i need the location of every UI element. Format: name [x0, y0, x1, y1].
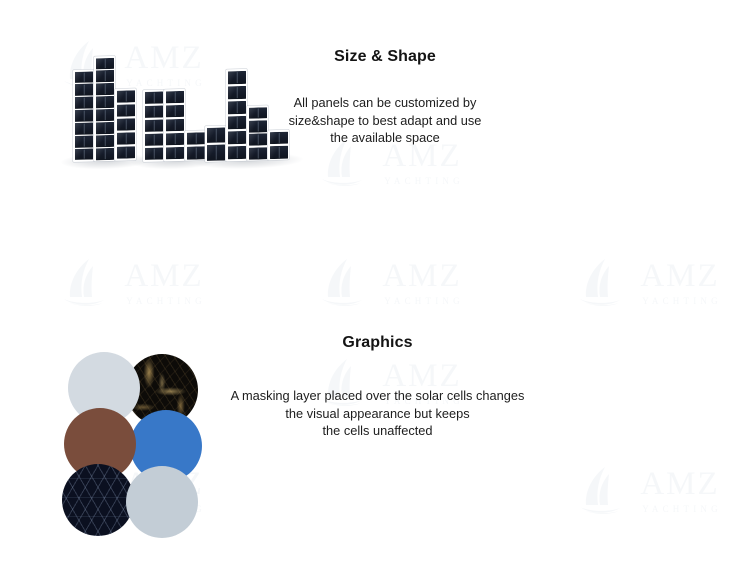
solar-cell: [75, 148, 93, 160]
solar-cell: [166, 119, 184, 132]
body-line: the cells unaffected: [200, 422, 555, 440]
watermark-brand: AMZ: [382, 260, 461, 293]
solar-cell: [166, 90, 184, 103]
solar-cell: [96, 70, 114, 82]
panel-column: [205, 125, 226, 162]
body-line: All panels can be customized by: [235, 94, 535, 112]
circle-navy-chevron: [62, 464, 134, 536]
solar-cell: [75, 71, 93, 83]
sailboat-icon: [578, 257, 624, 309]
section-size-and-shape: Size & Shape All panels can be customize…: [235, 48, 535, 147]
sailboat-icon: [320, 257, 366, 309]
solar-cell: [96, 109, 114, 121]
solar-cell: [207, 127, 225, 143]
panel-column: [164, 89, 185, 162]
watermark-brand: AMZ: [640, 468, 719, 501]
body-line: size&shape to best adapt and use: [235, 112, 535, 130]
solar-cell: [117, 146, 135, 159]
solar-cell: [145, 91, 163, 104]
solar-cell: [145, 133, 163, 146]
color-swatch-circles-illustration: [60, 352, 195, 537]
solar-cell: [207, 144, 225, 160]
watermark-brand: AMZ: [124, 260, 203, 293]
body-line: the visual appearance but keeps: [200, 405, 555, 423]
solar-cell: [96, 135, 114, 147]
body-line: A masking layer placed over the solar ce…: [200, 387, 555, 405]
solar-cell: [145, 119, 163, 132]
watermark-tagline: YACHTING: [380, 177, 464, 186]
solar-cell: [96, 83, 114, 95]
solar-cell: [96, 57, 114, 69]
solar-cell: [75, 110, 93, 122]
solar-cell: [117, 90, 135, 103]
solar-cell: [75, 97, 93, 109]
watermark-tagline: YACHTING: [122, 297, 206, 306]
solar-cell: [96, 122, 114, 134]
solar-cell: [270, 145, 288, 158]
section-title-graphics: Graphics: [200, 334, 555, 352]
solar-cell: [228, 146, 246, 160]
solar-cell: [145, 147, 163, 160]
sailboat-icon: [578, 465, 624, 517]
solar-cell: [96, 96, 114, 108]
solar-cell: [75, 84, 93, 96]
section-title-size-and-shape: Size & Shape: [235, 48, 535, 66]
solar-cell: [96, 148, 114, 160]
watermark-logo: AMZYACHTING: [320, 252, 480, 314]
panel-column: [94, 56, 115, 162]
solar-cell: [75, 136, 93, 148]
solar-cell: [249, 147, 267, 159]
solar-cell: [187, 132, 205, 145]
watermark-tagline: YACHTING: [638, 297, 722, 306]
solar-cell: [117, 132, 135, 145]
section-graphics: Graphics A masking layer placed over the…: [200, 334, 555, 440]
watermark-brand: AMZ: [640, 260, 719, 293]
solar-cell: [166, 104, 184, 117]
sailboat-icon: [62, 257, 108, 309]
panel-column: [73, 69, 94, 162]
section-body-graphics: A masking layer placed over the solar ce…: [200, 387, 555, 440]
circle-pale-blue-gray: [126, 466, 198, 538]
watermark-tagline: YACHTING: [380, 297, 464, 306]
solar-cell: [117, 104, 135, 117]
watermark-tagline: YACHTING: [638, 505, 722, 514]
panel-column: [143, 89, 164, 162]
body-line: the available space: [235, 129, 535, 147]
solar-cell: [117, 118, 135, 131]
panel-column: [185, 130, 206, 161]
solar-cell: [145, 105, 163, 118]
section-body-size-and-shape: All panels can be customized by size&sha…: [235, 94, 535, 147]
solar-cell: [166, 147, 184, 160]
watermark-logo: AMZYACHTING: [62, 252, 222, 314]
panel-column: [115, 88, 136, 161]
solar-cell: [166, 133, 184, 146]
watermark-logo: AMZYACHTING: [578, 252, 738, 314]
solar-cell: [75, 123, 93, 135]
watermark-logo: AMZYACHTING: [578, 460, 738, 522]
